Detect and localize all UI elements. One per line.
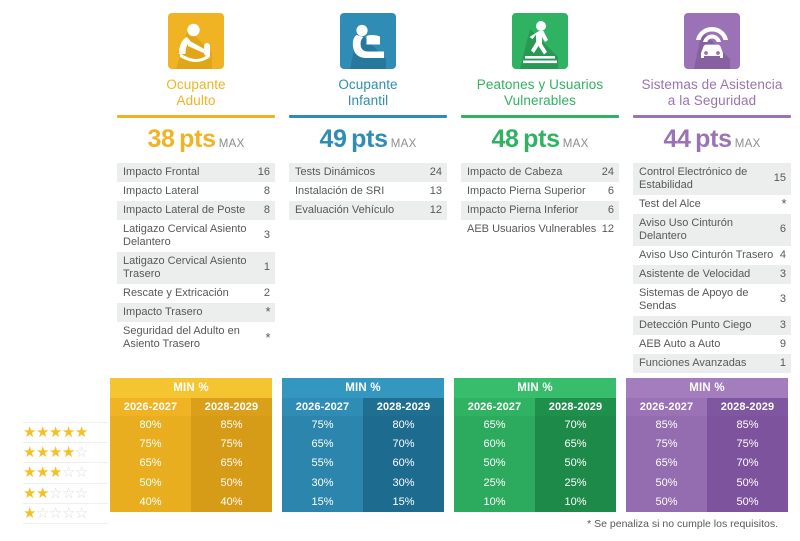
list-item: Impacto Pierna Inferior6 bbox=[461, 201, 619, 220]
score-unit: pts bbox=[351, 125, 388, 153]
table-body: 85% 75% 65% 50% 50% 85% 75% 70% 50% 50% bbox=[626, 416, 788, 512]
table-cell: 75% bbox=[191, 435, 272, 454]
star-icon: ★ bbox=[62, 445, 75, 460]
table-cell: 50% bbox=[707, 474, 788, 493]
list-item: Asistente de Velocidad3 bbox=[633, 265, 791, 284]
star-outline-icon: ☆ bbox=[75, 486, 88, 501]
pedestrian-icon bbox=[512, 13, 568, 69]
table-cell: 40% bbox=[110, 493, 191, 512]
table-title: MIN % bbox=[282, 378, 444, 398]
category-rule bbox=[289, 115, 447, 118]
column-header-2026-2027: 2026-2027 bbox=[110, 398, 191, 416]
star-rating-row: ★★★☆☆ bbox=[23, 463, 108, 483]
category-rule bbox=[633, 115, 791, 118]
star-icon: ★ bbox=[23, 465, 36, 480]
minimum-percentage-section: ★★★★★ ★★★★☆ ★★★☆☆ ★★☆☆☆ ★☆☆☆☆ MIN % 2026… bbox=[0, 378, 800, 518]
list-item: Rescate y Extricación2 bbox=[117, 284, 275, 303]
category-title-line1: Sistemas de Asistencia bbox=[641, 77, 782, 92]
star-outline-icon: ☆ bbox=[49, 506, 62, 521]
table-cell: 40% bbox=[191, 493, 272, 512]
category-column-safety-assist: Sistemas de Asistencia a la Seguridad 44… bbox=[626, 0, 798, 375]
category-score: 44 ptsMAX bbox=[626, 125, 798, 154]
footnote: * Se penaliza si no cumple los requisito… bbox=[587, 518, 778, 530]
list-item: Latigazo Cervical Asiento Trasero1 bbox=[117, 252, 275, 284]
column-header-2028-2029: 2028-2029 bbox=[707, 398, 788, 416]
category-title-line2: Infantil bbox=[348, 93, 389, 108]
table-cell: 65% bbox=[626, 454, 707, 473]
score-number: 49 bbox=[319, 125, 346, 153]
table-cell: 80% bbox=[110, 416, 191, 435]
table-cell: 25% bbox=[454, 474, 535, 493]
min-percentage-table-child-occupant: MIN % 2026-2027 2028-2029 75% 65% 55% 30… bbox=[282, 378, 444, 512]
table-title: MIN % bbox=[110, 378, 272, 398]
column-header-2028-2029: 2028-2029 bbox=[191, 398, 272, 416]
star-outline-icon: ☆ bbox=[62, 465, 75, 480]
star-outline-icon: ☆ bbox=[36, 506, 49, 521]
score-number: 44 bbox=[663, 125, 690, 153]
table-cell: 15% bbox=[282, 493, 363, 512]
table-subheader: 2026-2027 2028-2029 bbox=[282, 398, 444, 416]
column-header-2028-2029: 2028-2029 bbox=[363, 398, 444, 416]
column-header-2026-2027: 2026-2027 bbox=[626, 398, 707, 416]
table-cell: 60% bbox=[454, 435, 535, 454]
category-title-line2: a la Seguridad bbox=[668, 93, 756, 108]
safety-assist-icon bbox=[684, 13, 740, 69]
list-item: Test del Alce* bbox=[633, 195, 791, 214]
table-cell: 30% bbox=[282, 474, 363, 493]
category-title-line1: Peatones y Usuarios bbox=[477, 77, 603, 92]
table-cell: 85% bbox=[626, 416, 707, 435]
table-cell: 30% bbox=[363, 474, 444, 493]
table-cell: 75% bbox=[110, 435, 191, 454]
table-cell: 50% bbox=[707, 493, 788, 512]
star-icon: ★ bbox=[49, 425, 62, 440]
category-item-list: Impacto Frontal16 Impacto Lateral8 Impac… bbox=[117, 163, 275, 354]
category-title: Ocupante Adulto bbox=[110, 77, 282, 108]
table-cell: 10% bbox=[535, 493, 616, 512]
category-title-line2: Adulto bbox=[177, 93, 216, 108]
table-cell: 50% bbox=[110, 474, 191, 493]
score-max-label: MAX bbox=[391, 138, 417, 150]
star-icon: ★ bbox=[75, 425, 88, 440]
star-icon: ★ bbox=[62, 425, 75, 440]
table-cell: 55% bbox=[282, 454, 363, 473]
table-cell: 85% bbox=[707, 416, 788, 435]
table-cell: 65% bbox=[191, 454, 272, 473]
table-body: 75% 65% 55% 30% 15% 80% 70% 60% 30% 15% bbox=[282, 416, 444, 512]
category-column-adult-occupant: Ocupante Adulto 38 ptsMAX Impacto Fronta… bbox=[110, 0, 282, 375]
list-item: AEB Usuarios Vulnerables12 bbox=[461, 220, 619, 239]
star-icon: ★ bbox=[36, 445, 49, 460]
list-item: Evaluación Vehículo12 bbox=[289, 201, 447, 220]
table-title: MIN % bbox=[626, 378, 788, 398]
star-icon: ★ bbox=[23, 486, 36, 501]
table-cell: 65% bbox=[454, 416, 535, 435]
list-item: Tests Dinámicos24 bbox=[289, 163, 447, 182]
star-outline-icon: ☆ bbox=[62, 506, 75, 521]
table-cell: 60% bbox=[363, 454, 444, 473]
table-subheader: 2026-2027 2028-2029 bbox=[110, 398, 272, 416]
category-item-list: Control Electrónico de Estabilidad15 Tes… bbox=[633, 163, 791, 373]
table-subheader: 2026-2027 2028-2029 bbox=[626, 398, 788, 416]
category-title-line1: Ocupante bbox=[338, 77, 397, 92]
star-outline-icon: ☆ bbox=[75, 465, 88, 480]
score-max-label: MAX bbox=[219, 138, 245, 150]
list-item: Sistemas de Apoyo de Sendas3 bbox=[633, 284, 791, 316]
min-percentage-table-safety-assist: MIN % 2026-2027 2028-2029 85% 75% 65% 50… bbox=[626, 378, 788, 512]
category-columns: Ocupante Adulto 38 ptsMAX Impacto Fronta… bbox=[0, 0, 800, 375]
score-max-label: MAX bbox=[563, 138, 589, 150]
score-unit: pts bbox=[523, 125, 560, 153]
category-title: Sistemas de Asistencia a la Seguridad bbox=[626, 77, 798, 108]
list-item: Latigazo Cervical Asiento Delantero3 bbox=[117, 220, 275, 252]
list-item: Impacto Lateral de Poste8 bbox=[117, 201, 275, 220]
table-cell: 10% bbox=[454, 493, 535, 512]
category-score: 48 ptsMAX bbox=[454, 125, 626, 154]
table-cell: 25% bbox=[535, 474, 616, 493]
star-icon: ★ bbox=[23, 506, 36, 521]
list-item: Impacto Lateral8 bbox=[117, 182, 275, 201]
star-outline-icon: ☆ bbox=[75, 445, 88, 460]
star-outline-icon: ☆ bbox=[75, 506, 88, 521]
list-item: Detección Punto Ciego3 bbox=[633, 316, 791, 335]
table-cell: 65% bbox=[282, 435, 363, 454]
table-cell: 70% bbox=[707, 454, 788, 473]
table-cell: 50% bbox=[191, 474, 272, 493]
category-column-pedestrians: Peatones y Usuarios Vulnerables 48 ptsMA… bbox=[454, 0, 626, 375]
category-score: 38 ptsMAX bbox=[110, 125, 282, 154]
list-item: Control Electrónico de Estabilidad15 bbox=[633, 163, 791, 195]
table-cell: 75% bbox=[707, 435, 788, 454]
list-item: Instalación de SRI13 bbox=[289, 182, 447, 201]
list-item: Impacto Pierna Superior6 bbox=[461, 182, 619, 201]
table-title: MIN % bbox=[454, 378, 616, 398]
star-outline-icon: ☆ bbox=[62, 486, 75, 501]
star-rating-row: ★★★★☆ bbox=[23, 443, 108, 463]
list-item: Aviso Uso Cinturón Trasero4 bbox=[633, 246, 791, 265]
score-number: 38 bbox=[147, 125, 174, 153]
table-cell: 50% bbox=[454, 454, 535, 473]
list-item: Impacto de Cabeza24 bbox=[461, 163, 619, 182]
child-occupant-icon bbox=[340, 13, 396, 69]
score-unit: pts bbox=[179, 125, 216, 153]
table-cell: 80% bbox=[363, 416, 444, 435]
score-number: 48 bbox=[491, 125, 518, 153]
category-rule bbox=[461, 115, 619, 118]
table-cell: 65% bbox=[535, 435, 616, 454]
category-column-child-occupant: Ocupante Infantil 49 ptsMAX Tests Dinámi… bbox=[282, 0, 454, 375]
category-rule bbox=[117, 115, 275, 118]
table-cell: 50% bbox=[626, 493, 707, 512]
table-cell: 65% bbox=[110, 454, 191, 473]
category-title: Ocupante Infantil bbox=[282, 77, 454, 108]
category-item-list: Impacto de Cabeza24 Impacto Pierna Super… bbox=[461, 163, 619, 239]
table-cell: 70% bbox=[363, 435, 444, 454]
column-header-2028-2029: 2028-2029 bbox=[535, 398, 616, 416]
category-title: Peatones y Usuarios Vulnerables bbox=[454, 77, 626, 108]
table-cell: 70% bbox=[535, 416, 616, 435]
star-icon: ★ bbox=[36, 486, 49, 501]
table-subheader: 2026-2027 2028-2029 bbox=[454, 398, 616, 416]
star-icon: ★ bbox=[49, 465, 62, 480]
table-body: 80% 75% 65% 50% 40% 85% 75% 65% 50% 40% bbox=[110, 416, 272, 512]
star-outline-icon: ☆ bbox=[49, 486, 62, 501]
star-icon: ★ bbox=[23, 445, 36, 460]
list-item: Impacto Frontal16 bbox=[117, 163, 275, 182]
star-rating-legend: ★★★★★ ★★★★☆ ★★★☆☆ ★★☆☆☆ ★☆☆☆☆ bbox=[23, 422, 108, 524]
column-header-2026-2027: 2026-2027 bbox=[282, 398, 363, 416]
column-header-2026-2027: 2026-2027 bbox=[454, 398, 535, 416]
table-cell: 50% bbox=[626, 474, 707, 493]
table-body: 65% 60% 50% 25% 10% 70% 65% 50% 25% 10% bbox=[454, 416, 616, 512]
min-percentage-table-pedestrians: MIN % 2026-2027 2028-2029 65% 60% 50% 25… bbox=[454, 378, 616, 512]
list-item: Seguridad del Adulto en Asiento Trasero* bbox=[117, 322, 275, 354]
star-rating-row: ★★☆☆☆ bbox=[23, 484, 108, 504]
table-cell: 75% bbox=[626, 435, 707, 454]
score-max-label: MAX bbox=[735, 138, 761, 150]
list-item: Funciones Avanzadas1 bbox=[633, 354, 791, 373]
table-cell: 50% bbox=[535, 454, 616, 473]
table-cell: 85% bbox=[191, 416, 272, 435]
score-unit: pts bbox=[695, 125, 732, 153]
star-rating-row: ★☆☆☆☆ bbox=[23, 504, 108, 524]
star-rating-row: ★★★★★ bbox=[23, 422, 108, 443]
star-icon: ★ bbox=[23, 425, 36, 440]
star-icon: ★ bbox=[36, 425, 49, 440]
list-item: AEB Auto a Auto9 bbox=[633, 335, 791, 354]
category-item-list: Tests Dinámicos24 Instalación de SRI13 E… bbox=[289, 163, 447, 220]
category-title-line2: Vulnerables bbox=[504, 93, 576, 108]
table-cell: 15% bbox=[363, 493, 444, 512]
category-score: 49 ptsMAX bbox=[282, 125, 454, 154]
star-icon: ★ bbox=[36, 465, 49, 480]
list-item: Impacto Trasero* bbox=[117, 303, 275, 322]
adult-occupant-icon bbox=[168, 13, 224, 69]
star-icon: ★ bbox=[49, 445, 62, 460]
list-item: Aviso Uso Cinturón Delantero6 bbox=[633, 214, 791, 246]
table-cell: 75% bbox=[282, 416, 363, 435]
category-title-line1: Ocupante bbox=[166, 77, 225, 92]
min-percentage-table-adult-occupant: MIN % 2026-2027 2028-2029 80% 75% 65% 50… bbox=[110, 378, 272, 512]
